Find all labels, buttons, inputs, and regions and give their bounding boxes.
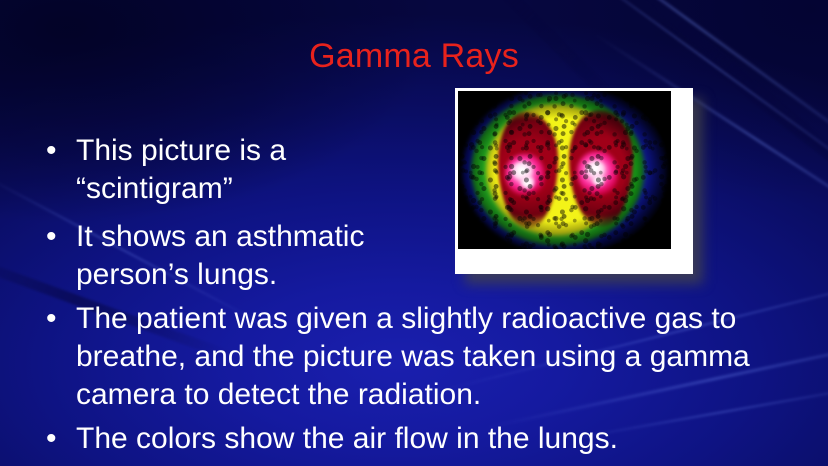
bullet-marker: •	[46, 218, 76, 256]
list-item-text: This picture is a “scintigram”	[76, 132, 426, 208]
slide-title: Gamma Rays	[0, 36, 828, 76]
bullet-marker: •	[46, 132, 76, 170]
list-item: • The patient was given a slightly radio…	[46, 300, 806, 414]
scintigram-picture	[455, 88, 693, 274]
list-item-text: It shows an asthmatic person’s lungs.	[76, 218, 426, 294]
list-item-text: The colors show the air flow in the lung…	[76, 420, 806, 458]
list-item: • The colors show the air flow in the lu…	[46, 420, 806, 458]
picture-frame	[455, 88, 693, 274]
list-item-text: The patient was given a slightly radioac…	[76, 300, 806, 414]
scan-vignette	[458, 91, 671, 249]
presentation-slide: Gamma Rays • This picture is a “scintigr…	[0, 0, 828, 466]
scintigram-image	[458, 91, 671, 249]
bullet-marker: •	[46, 300, 76, 338]
bullet-marker: •	[46, 420, 76, 458]
